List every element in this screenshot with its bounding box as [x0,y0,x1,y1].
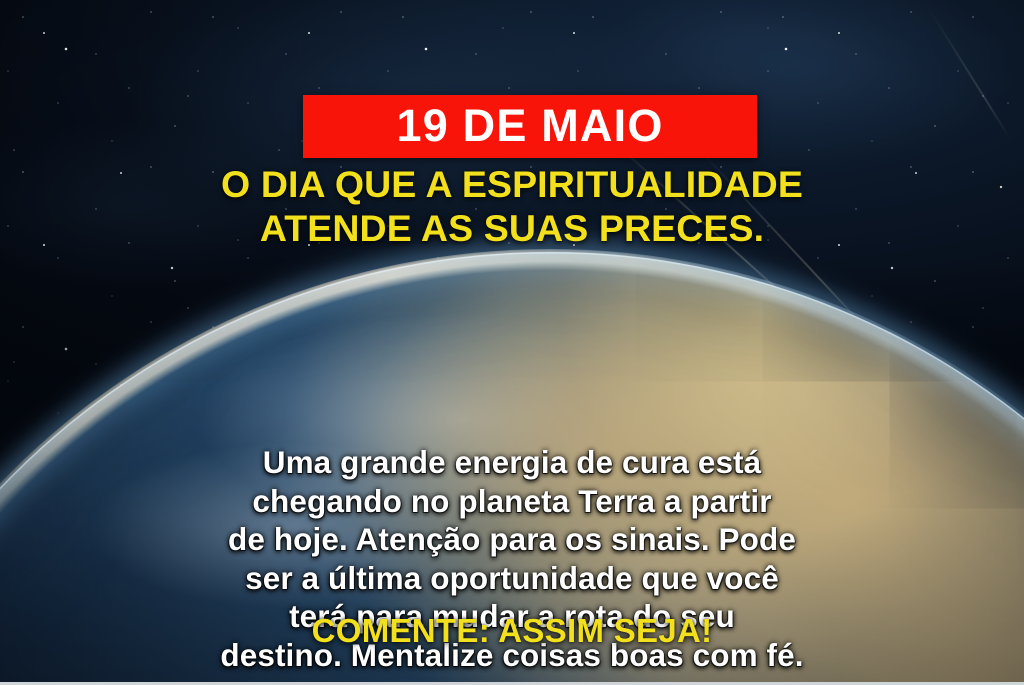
headline-line-1: O DIA QUE A ESPIRITUALIDADE [221,163,803,205]
body-copy-line-4: ser a última oportunidade que você [58,559,966,598]
poster-canvas: 19 DE MAIO O DIA QUE A ESPIRITUALIDADE A… [0,0,1024,685]
headline-line-2: ATENDE AS SUAS PRECES. [40,207,984,251]
date-banner: 19 DE MAIO [303,95,757,158]
date-banner-label: 19 DE MAIO [396,103,663,148]
call-to-action-text: COMENTE: ASSIM SEJA! [0,612,1024,650]
poster-content: 19 DE MAIO O DIA QUE A ESPIRITUALIDADE A… [0,0,1024,685]
headline: O DIA QUE A ESPIRITUALIDADE ATENDE AS SU… [0,163,1024,250]
body-copy-line-3: de hoje. Atenção para os sinais. Pode [58,520,966,559]
body-copy-line-2: chegando no planeta Terra a partir [58,482,966,521]
body-copy-line-1: Uma grande energia de cura está [58,443,966,482]
